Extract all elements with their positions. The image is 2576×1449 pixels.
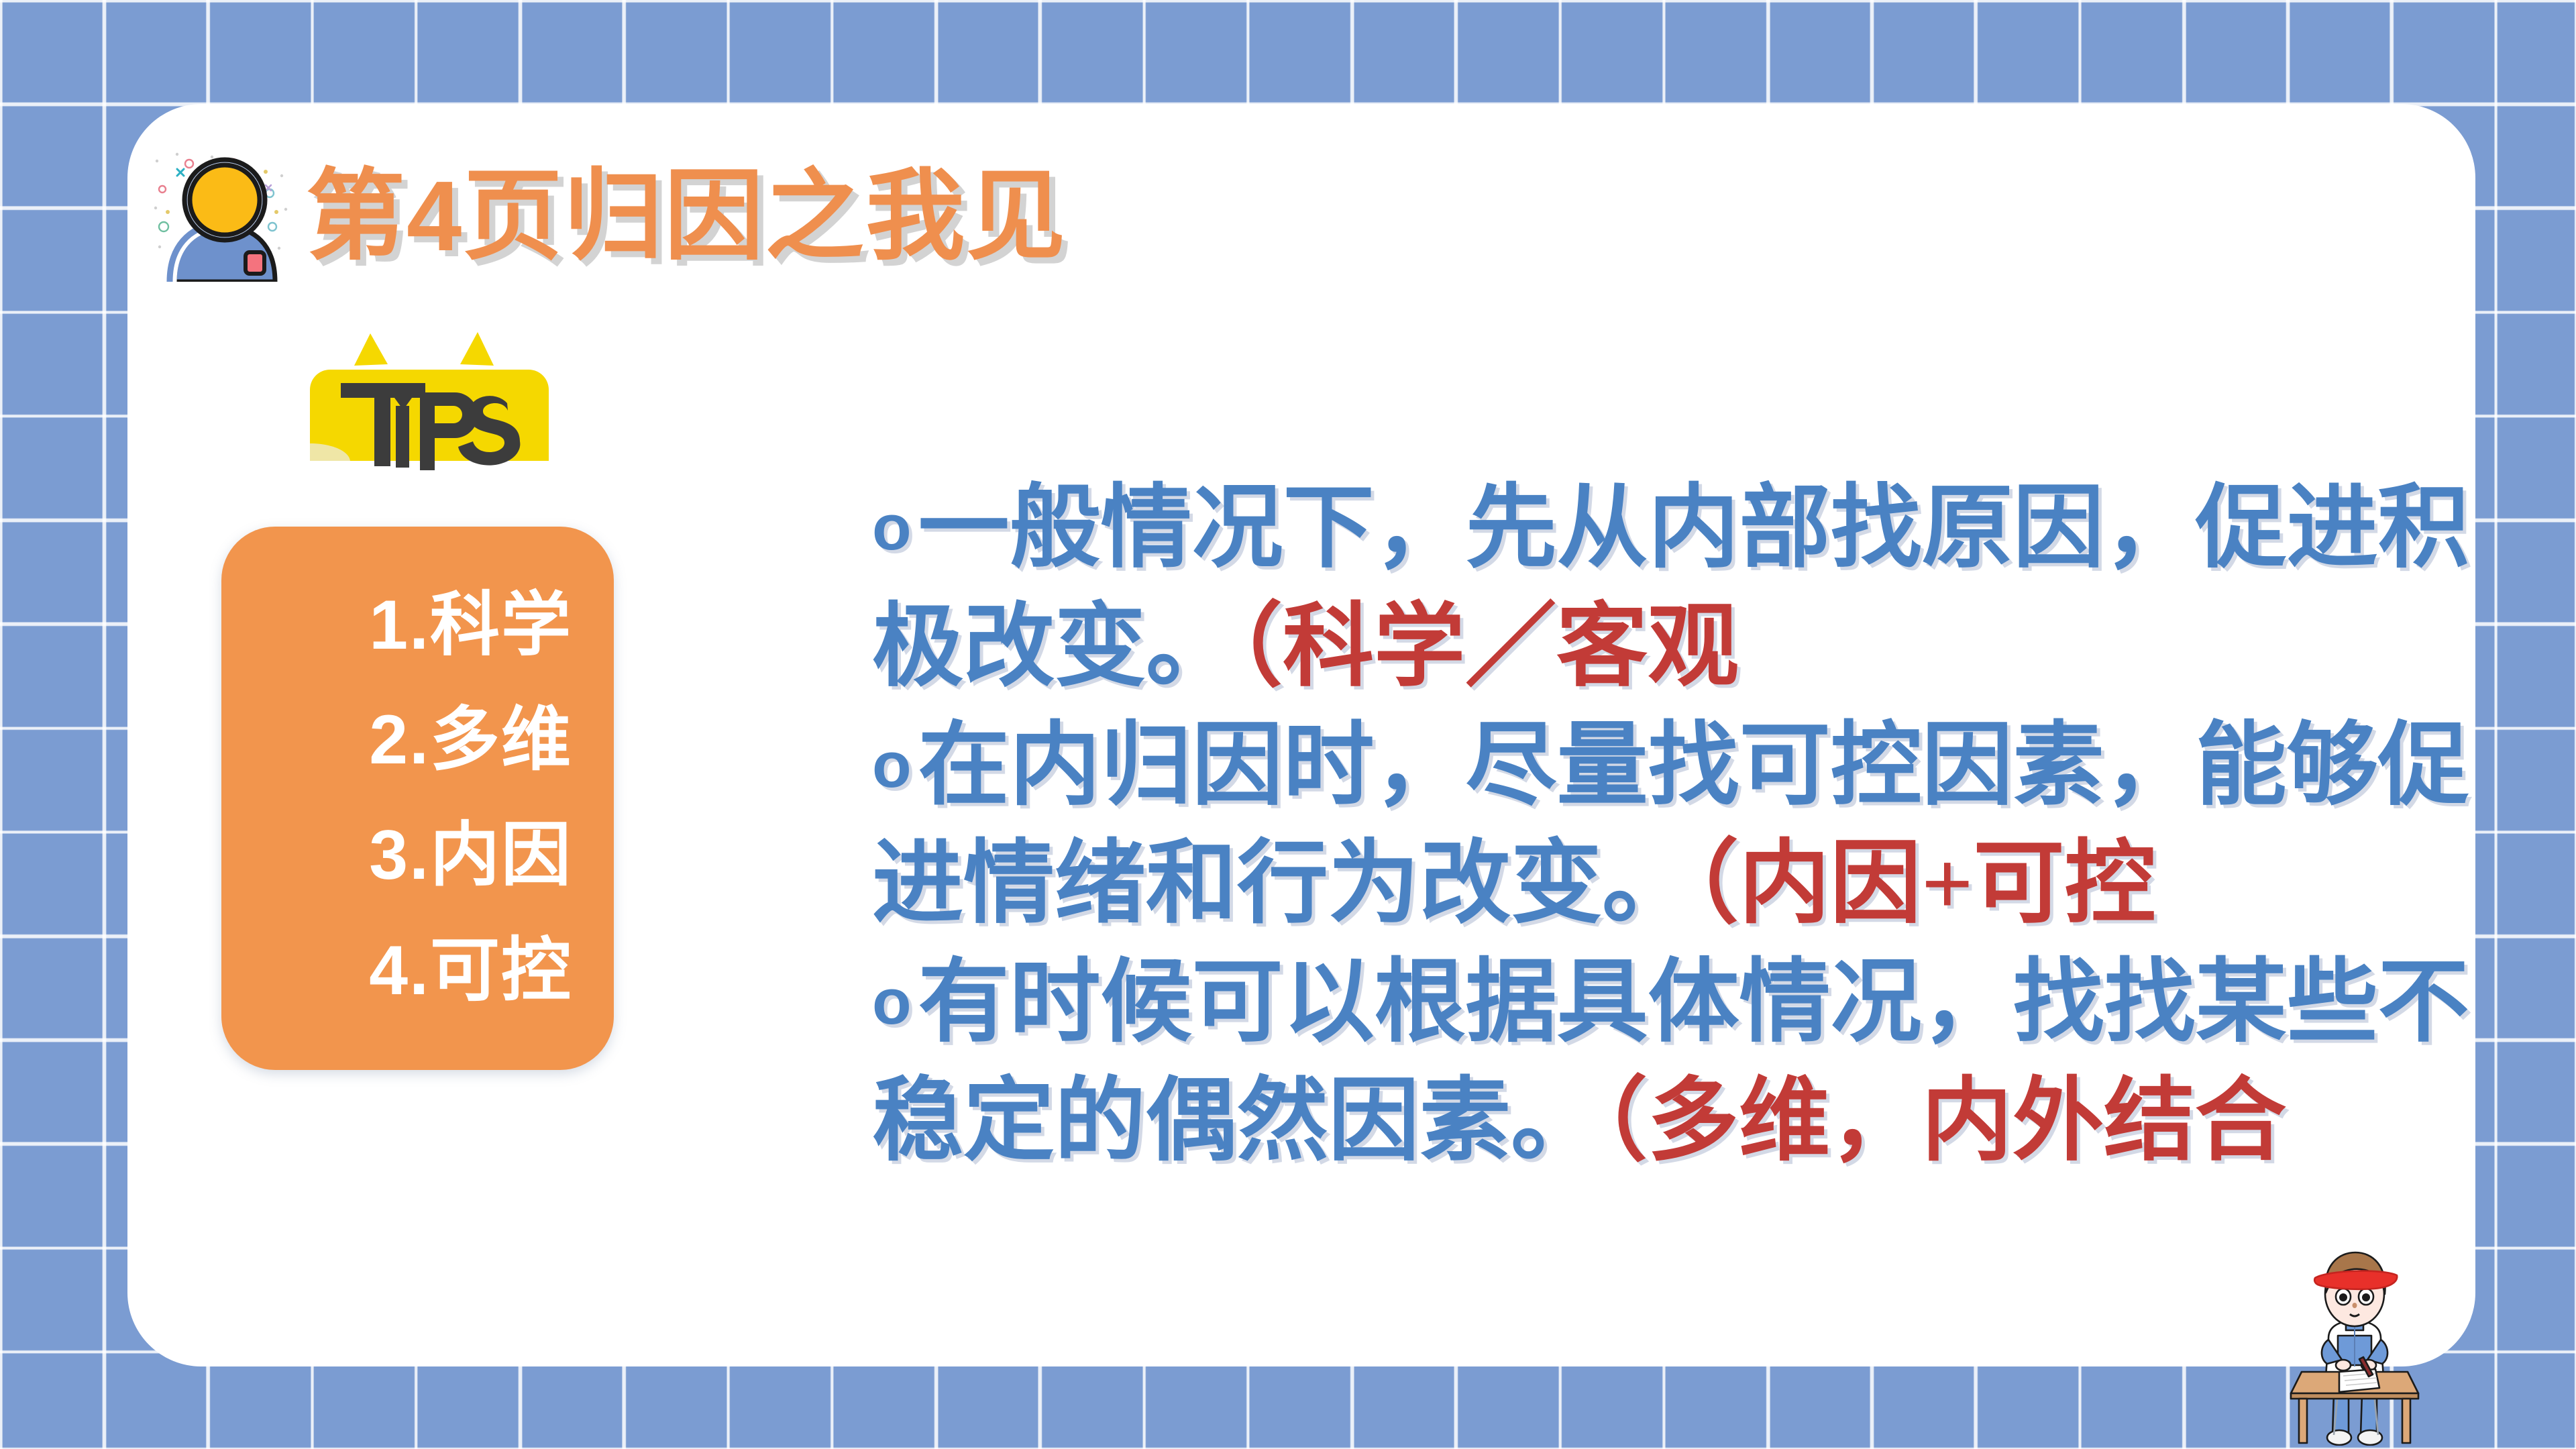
page-title: 第4页归因之我见 <box>306 167 1067 266</box>
bullet-glyph: o <box>872 966 918 1038</box>
student-writing-at-desk-icon <box>2264 1238 2445 1446</box>
header-row: 第4页归因之我见 <box>148 144 1067 285</box>
left-column: 1.科学 2.多维 3.内因 4.可控 <box>208 325 624 480</box>
body-paragraph: o在内归因时，尽量找可控因素，能够促进情绪和行为改变。（内因+可控 <box>872 707 2495 945</box>
person-avatar-icon <box>148 148 302 282</box>
tips-badge-icon <box>295 325 563 480</box>
content-card: 第4页归因之我见 <box>127 104 2475 1366</box>
keywords-box: 1.科学 2.多维 3.内因 4.可控 <box>221 527 614 1070</box>
bullet-glyph: o <box>872 729 918 801</box>
list-item: 1.科学 <box>221 589 614 662</box>
bullet-glyph: o <box>872 492 918 563</box>
body-paragraph: o一般情况下，先从内部找原因，促进积极改变。（科学／客观 <box>872 470 2495 707</box>
paragraph-highlight-text: （科学／客观 <box>1237 597 1739 698</box>
paragraph-main-text: 在内归因时，尽量找可控因素，能够促进情绪和行为改变。 <box>872 716 2469 935</box>
list-item: 4.可控 <box>221 934 614 1008</box>
paragraph-highlight-text: （内因+可控 <box>1693 834 2156 934</box>
list-item: 3.内因 <box>221 819 614 892</box>
list-item: 2.多维 <box>221 704 614 777</box>
body-paragraph: o有时候可以根据具体情况，找找某些不稳定的偶然因素。（多维，内外结合 <box>872 944 2495 1181</box>
slide-canvas: 第4页归因之我见 <box>0 0 2576 1449</box>
body-text-block: o一般情况下，先从内部找原因，促进积极改变。（科学／客观 o在内归因时，尽量找可… <box>872 470 2495 1181</box>
paragraph-highlight-text: （多维，内外结合 <box>1602 1071 2286 1172</box>
